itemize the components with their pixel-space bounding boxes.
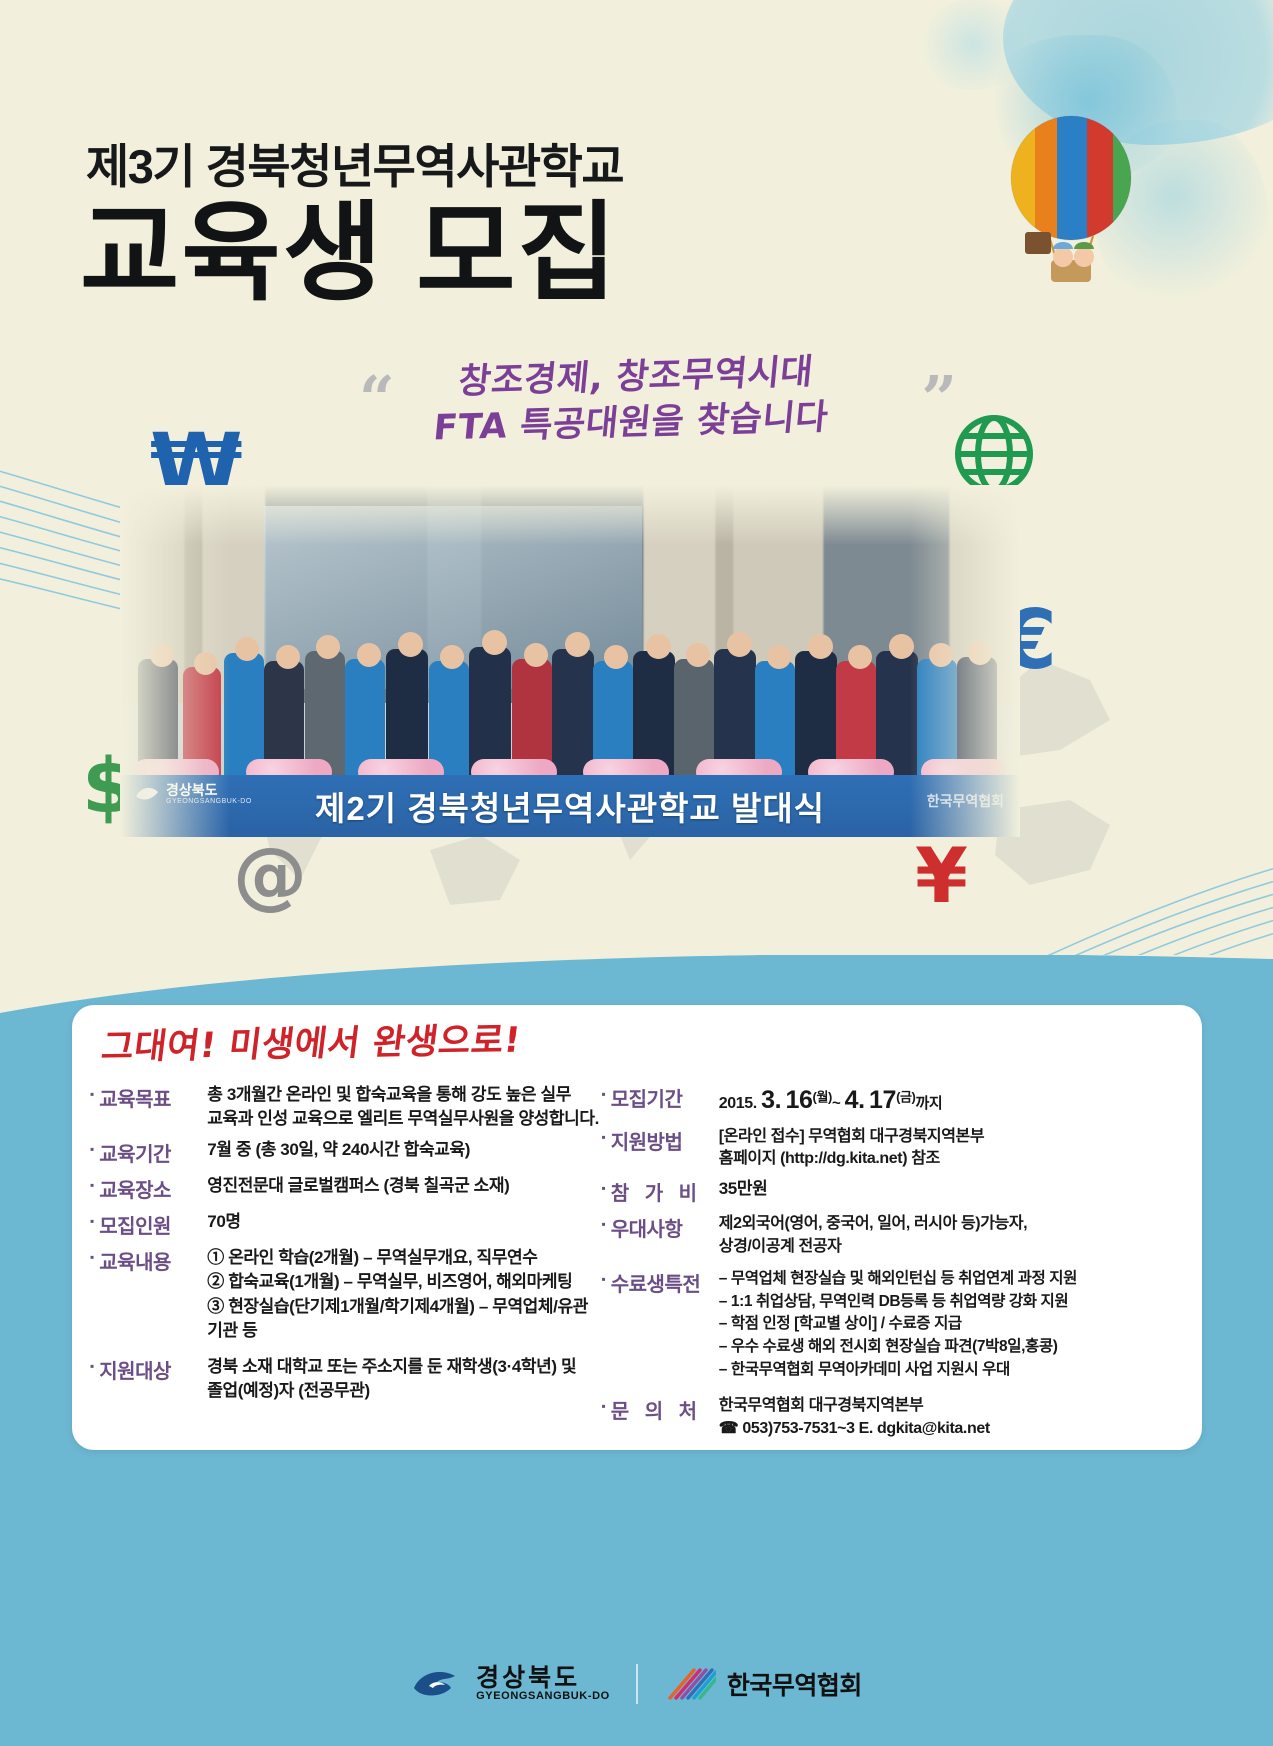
photo-banner-right-logo: 한국무역협회 — [927, 791, 1004, 811]
info-value: 영진전문대 글로벌캠퍼스 (경북 칠곡군 소재) — [207, 1174, 509, 1198]
info-row-goal: ▪ 교육목표 총 3개월간 온라인 및 합숙교육을 통해 강도 높은 실무 교육… — [90, 1083, 601, 1131]
info-label: 수료생특전 — [611, 1268, 719, 1297]
info-value: 한국무역협회 대구경북지역본부 ☎ 053)753-7531~3 E. dgki… — [719, 1395, 990, 1440]
curriculum-item-1: ① 온라인 학습(2개월) – 무역실무개요, 직무연수 — [207, 1248, 537, 1267]
bullet-icon: ▪ — [90, 1246, 94, 1268]
apply-method-line-2[interactable]: 홈페이지 (http://dg.kita.net) 참조 — [719, 1148, 984, 1170]
period-month-2: 4. — [845, 1086, 865, 1114]
gyeongsangbuk-do-logo: 경상북도 GYEONGSANGBUK-DO — [411, 1664, 610, 1704]
info-row-quota: ▪ 모집인원 70명 — [90, 1210, 601, 1239]
info-value-line: 교육과 인성 교육으로 엘리트 무역실무사원을 양성합니다. — [207, 1107, 599, 1131]
info-value-line: 졸업(예정)자 (전공무관) — [207, 1379, 576, 1403]
photo-banner: 경상북도 GYEONGSANGBUK-DO 제2기 경북청년무역사관학교 발대식… — [120, 775, 1020, 837]
kita-mark-icon — [664, 1664, 716, 1704]
info-value: ① 온라인 학습(2개월) – 무역실무개요, 직무연수 ② 합숙교육(1개월)… — [207, 1246, 601, 1343]
benefit-item: – 한국무역협회 무역아카데미 사업 지원시 우대 — [719, 1359, 1077, 1382]
yen-symbol-icon: ¥ — [915, 838, 968, 914]
info-row-contact: ▪ 문 의 처 한국무역협회 대구경북지역본부 ☎ 053)753-7531~3… — [601, 1395, 1188, 1440]
gyeongsangbuk-do-mark-icon — [411, 1664, 465, 1704]
page-title: 교육생 모집 — [80, 196, 619, 309]
footer-divider — [636, 1664, 638, 1704]
kita-name-ko: 한국무역협회 — [727, 1666, 862, 1702]
bullet-icon: ▪ — [601, 1395, 605, 1417]
period-dow-2: (금) — [896, 1089, 915, 1104]
info-right-column: ▪ 모집기간 2015. 3. 16(월)~ 4. 17(금)까지 ▪ 지원방법… — [601, 1083, 1188, 1447]
info-row-curriculum: ▪ 교육내용 ① 온라인 학습(2개월) – 무역실무개요, 직무연수 ② 합숙… — [90, 1246, 601, 1343]
info-label: 우대사항 — [611, 1213, 719, 1242]
info-label: 지원방법 — [611, 1126, 719, 1155]
apply-method-line-1: [온라인 접수] 무역협회 대구경북지역본부 — [719, 1128, 984, 1145]
benefit-item: – 학점 인정 [학교별 상이] / 수료증 지급 — [719, 1313, 1077, 1336]
period-day-1: 16 — [786, 1086, 813, 1114]
info-value-line: 경북 소재 대학교 또는 주소지를 둔 재학생(3·4학년) 및 — [207, 1357, 576, 1376]
info-label: 문 의 처 — [611, 1395, 719, 1424]
footer-logos: 경상북도 GYEONGSANGBUK-DO 한국무역협회 — [0, 1664, 1273, 1704]
contact-phone-email[interactable]: ☎ 053)753-7531~3 E. dgkita@kita.net — [719, 1418, 990, 1440]
watercolor-blob — [913, 0, 1033, 90]
info-row-period: ▪ 교육기간 7월 중 (총 30일, 약 240시간 합숙교육) — [90, 1138, 601, 1167]
curriculum-item-2: ② 합숙교육(1개월) – 무역실무, 비즈영어, 해외마케팅 — [207, 1270, 601, 1294]
info-row-fee: ▪ 참 가 비 35만원 — [601, 1177, 1188, 1206]
period-month-1: 3. — [761, 1086, 781, 1114]
curriculum-item-3: ③ 현장실습(단기제1개월/학기제4개월) – 무역업체/유관기관 등 — [207, 1295, 601, 1343]
benefit-item: – 우수 수료생 해외 전시회 현장실습 파견(7박8일,홍콩) — [719, 1336, 1077, 1359]
info-card-title: 그대여! 미생에서 완생으로! — [99, 1012, 524, 1070]
info-value: 7월 중 (총 30일, 약 240시간 합숙교육) — [207, 1138, 470, 1162]
info-label: 교육장소 — [99, 1174, 207, 1203]
preference-line-2: 상경/이공계 전공자 — [719, 1236, 1027, 1258]
tagline-block: “ ” 창조경제, 창조무역시대 FTA 특공대원을 찾습니다 — [355, 362, 915, 454]
info-row-preference: ▪ 우대사항 제2외국어(영어, 중국어, 일어, 러시아 등)가능자, 상경/… — [601, 1213, 1188, 1258]
info-row-apply-method: ▪ 지원방법 [온라인 접수] 무역협회 대구경북지역본부 홈페이지 (http… — [601, 1126, 1188, 1171]
info-value: [온라인 접수] 무역협회 대구경북지역본부 홈페이지 (http://dg.k… — [719, 1126, 984, 1171]
info-label: 교육목표 — [99, 1083, 207, 1112]
hot-air-balloon-icon — [987, 112, 1155, 288]
info-row-venue: ▪ 교육장소 영진전문대 글로벌캠퍼스 (경북 칠곡군 소재) — [90, 1174, 601, 1203]
info-value: 35만원 — [719, 1177, 768, 1201]
info-value: 총 3개월간 온라인 및 합숙교육을 통해 강도 높은 실무 교육과 인성 교육… — [207, 1083, 599, 1131]
info-label: 참 가 비 — [611, 1177, 719, 1206]
at-symbol-icon: @ — [233, 838, 307, 912]
group-photo: 경상북도 GYEONGSANGBUK-DO 제2기 경북청년무역사관학교 발대식… — [120, 485, 1020, 837]
info-row-benefits: ▪ 수료생특전 – 무역업체 현장실습 및 해외인턴십 등 취업연계 과정 지원… — [601, 1268, 1188, 1381]
preference-line-1: 제2외국어(영어, 중국어, 일어, 러시아 등)가능자, — [719, 1215, 1027, 1232]
info-value: 경북 소재 대학교 또는 주소지를 둔 재학생(3·4학년) 및 졸업(예정)자… — [207, 1355, 576, 1403]
info-value: 70명 — [207, 1210, 240, 1234]
bullet-icon: ▪ — [90, 1355, 94, 1377]
info-label: 교육기간 — [99, 1138, 207, 1167]
info-value: – 무역업체 현장실습 및 해외인턴십 등 취업연계 과정 지원 – 1:1 취… — [719, 1268, 1077, 1381]
info-label: 모집인원 — [99, 1210, 207, 1239]
gyeongsangbuk-do-name-ko: 경상북도 — [476, 1666, 610, 1692]
contact-org: 한국무역협회 대구경북지역본부 — [719, 1397, 924, 1414]
info-label: 모집기간 — [611, 1083, 719, 1112]
phone-icon: ☎ — [719, 1420, 739, 1437]
globe-icon — [952, 412, 1036, 496]
gyeongsangbuk-do-name-en: GYEONGSANGBUK-DO — [476, 1691, 610, 1702]
photo-banner-text: 제2기 경북청년무역사관학교 발대식 — [120, 775, 1020, 837]
benefit-item: – 무역업체 현장실습 및 해외인턴십 등 취업연계 과정 지원 — [719, 1270, 1077, 1287]
info-label: 교육내용 — [99, 1246, 207, 1275]
info-value: 제2외국어(영어, 중국어, 일어, 러시아 등)가능자, 상경/이공계 전공자 — [719, 1213, 1027, 1258]
info-left-column: ▪ 교육목표 총 3개월간 온라인 및 합숙교육을 통해 강도 높은 실무 교육… — [90, 1083, 601, 1447]
bullet-icon: ▪ — [601, 1268, 605, 1290]
info-card: 그대여! 미생에서 완생으로! ▪ 교육목표 총 3개월간 온라인 및 합숙교육… — [72, 1005, 1202, 1450]
kita-logo: 한국무역협회 — [664, 1664, 862, 1704]
poster-kicker: 제3기 경북청년무역사관학교 — [86, 128, 623, 197]
info-label: 지원대상 — [99, 1355, 207, 1384]
period-suffix: 까지 — [915, 1095, 942, 1112]
bullet-icon: ▪ — [601, 1126, 605, 1148]
bullet-icon: ▪ — [601, 1083, 605, 1105]
info-value: 2015. 3. 16(월)~ 4. 17(금)까지 — [719, 1083, 943, 1119]
info-row-application-period: ▪ 모집기간 2015. 3. 16(월)~ 4. 17(금)까지 — [601, 1083, 1188, 1119]
contact-phone-email-text: 053)753-7531~3 E. dgkita@kita.net — [742, 1420, 989, 1437]
info-value-line: 총 3개월간 온라인 및 합숙교육을 통해 강도 높은 실무 — [207, 1085, 571, 1104]
bullet-icon: ▪ — [90, 1083, 94, 1105]
period-tilde: ~ — [832, 1095, 840, 1112]
bullet-icon: ▪ — [90, 1210, 94, 1232]
bullet-icon: ▪ — [601, 1213, 605, 1235]
period-year: 2015. — [719, 1095, 757, 1112]
period-day-2: 17 — [869, 1086, 896, 1114]
benefit-item: – 1:1 취업상담, 무역인력 DB등록 등 취업역량 강화 지원 — [719, 1291, 1077, 1314]
bullet-icon: ▪ — [601, 1177, 605, 1199]
poster-root: 제3기 경북청년무역사관학교 교육생 모집 “ ” 창조경제, 창조무역시대 F… — [0, 0, 1273, 1746]
info-row-eligibility: ▪ 지원대상 경북 소재 대학교 또는 주소지를 둔 재학생(3·4학년) 및 … — [90, 1355, 601, 1403]
bullet-icon: ▪ — [90, 1174, 94, 1196]
period-dow-1: (월) — [813, 1089, 832, 1104]
bullet-icon: ▪ — [90, 1138, 94, 1160]
